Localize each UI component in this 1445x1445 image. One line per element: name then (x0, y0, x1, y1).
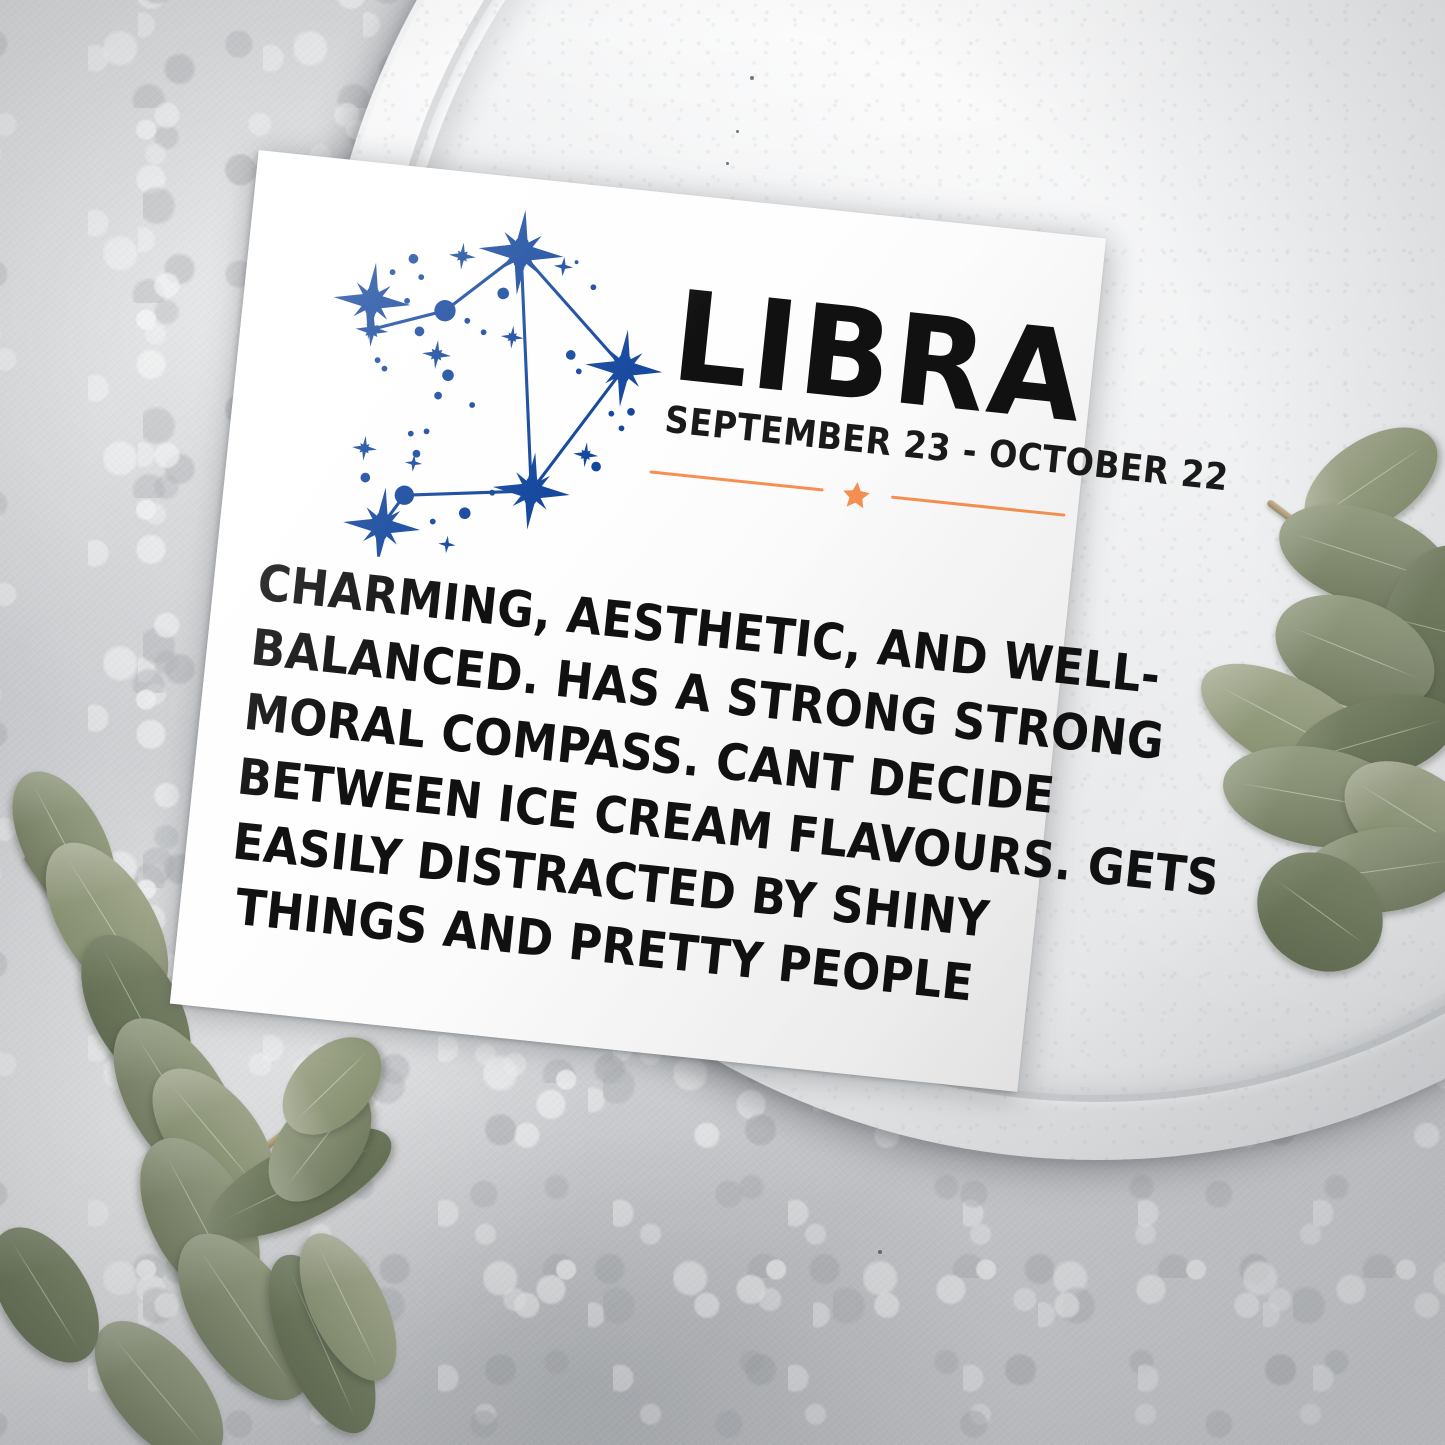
zodiac-print-card[interactable]: LIBRA SEPTEMBER 23 - OCTOBER 22 CHARMING… (170, 150, 1106, 1092)
title-block: LIBRA SEPTEMBER 23 - OCTOBER 22 (658, 282, 1073, 527)
constellation-field-dot (408, 253, 419, 264)
constellation-field-dot (489, 490, 495, 496)
constellation-field-dot (408, 430, 414, 436)
constellation-field-dot (608, 410, 614, 416)
constellation-field-dot (442, 369, 455, 382)
constellation-field-dot (464, 318, 470, 324)
constellation-node-dot (394, 485, 415, 506)
zodiac-description: CHARMING, AESTHETIC, AND WELL-BALANCED. … (221, 551, 1021, 1018)
constellation-field-dot (497, 287, 510, 300)
constellation-field-dot (389, 269, 395, 275)
constellation-star-large (581, 326, 666, 411)
constellation-field-dot (360, 472, 371, 483)
constellation-field-dot (423, 428, 429, 434)
constellation-field-dot (434, 391, 443, 400)
divider-rule-right (891, 496, 1065, 517)
constellation-star-small (404, 454, 423, 473)
constellation-star-small (351, 434, 379, 462)
constellation-field-dot (381, 365, 387, 371)
constellation-field-dot (576, 368, 582, 374)
divider-rule-left (649, 471, 823, 492)
constellation-field-dot (374, 357, 380, 363)
constellation-field-dot (627, 408, 636, 417)
constellation-star-small (437, 535, 456, 554)
zodiac-print-mockup-scene: LIBRA SEPTEMBER 23 - OCTOBER 22 CHARMING… (0, 0, 1445, 1445)
constellation-star-small (500, 324, 526, 350)
constellation-star-small (421, 339, 453, 371)
constellation-star-small (553, 256, 574, 277)
constellation-field-dot (591, 461, 602, 472)
constellation-star-small (447, 241, 477, 271)
constellation-field-dot (418, 274, 424, 280)
constellation-field-dot (565, 350, 576, 361)
libra-constellation-icon (290, 189, 697, 586)
constellation-field-dot (430, 518, 436, 524)
constellation-field-dot (404, 298, 410, 304)
constellation-field-dot (412, 449, 421, 458)
constellation-field-dot (414, 326, 425, 337)
constellation-field-dot (480, 329, 486, 335)
page-title: LIBRA (668, 280, 1074, 435)
constellation-field-dot (574, 260, 578, 264)
five-point-star-icon (840, 479, 873, 512)
constellation-field-dot (618, 425, 624, 431)
constellation-field-dot (590, 284, 596, 290)
constellation-field-dot (469, 402, 475, 408)
constellation-field-dot (458, 507, 471, 520)
